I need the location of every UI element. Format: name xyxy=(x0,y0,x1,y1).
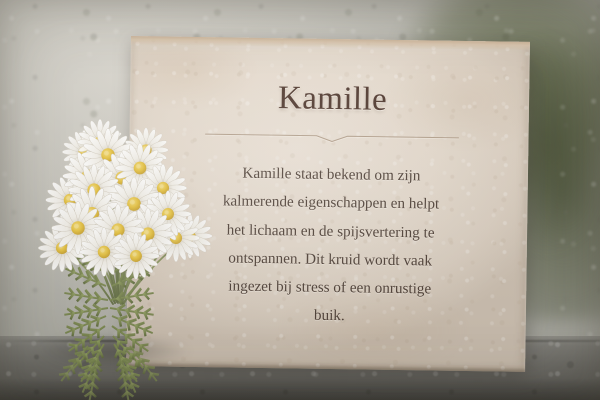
body-line: buik. xyxy=(179,300,479,333)
body-line: ingezet bij stress of een onrustige xyxy=(180,272,480,305)
floor-shadow-gradient xyxy=(0,378,600,400)
body-line: ontspannen. Dit kruid wordt vaak xyxy=(180,244,480,277)
plaque-surface: Kamille Kamille staat bekend om zijn kal… xyxy=(126,36,530,372)
plaque-body-text: Kamille staat bekend om zijn kalmerende … xyxy=(179,159,481,333)
title-divider-ornament xyxy=(204,130,459,146)
body-line: Kamille staat bekend om zijn xyxy=(181,159,481,192)
plant-ground-shadow xyxy=(6,328,221,374)
body-line: kalmerende eigenschappen en helpt xyxy=(181,187,481,220)
body-line: het lichaam en de spijsvertering te xyxy=(180,215,480,248)
plaque-content: Kamille Kamille staat bekend om zijn kal… xyxy=(154,58,507,349)
information-plaque: Kamille Kamille staat bekend om zijn kal… xyxy=(126,36,530,372)
plaque-scene: Kamille Kamille staat bekend om zijn kal… xyxy=(0,0,600,400)
page-title: Kamille xyxy=(278,82,388,117)
